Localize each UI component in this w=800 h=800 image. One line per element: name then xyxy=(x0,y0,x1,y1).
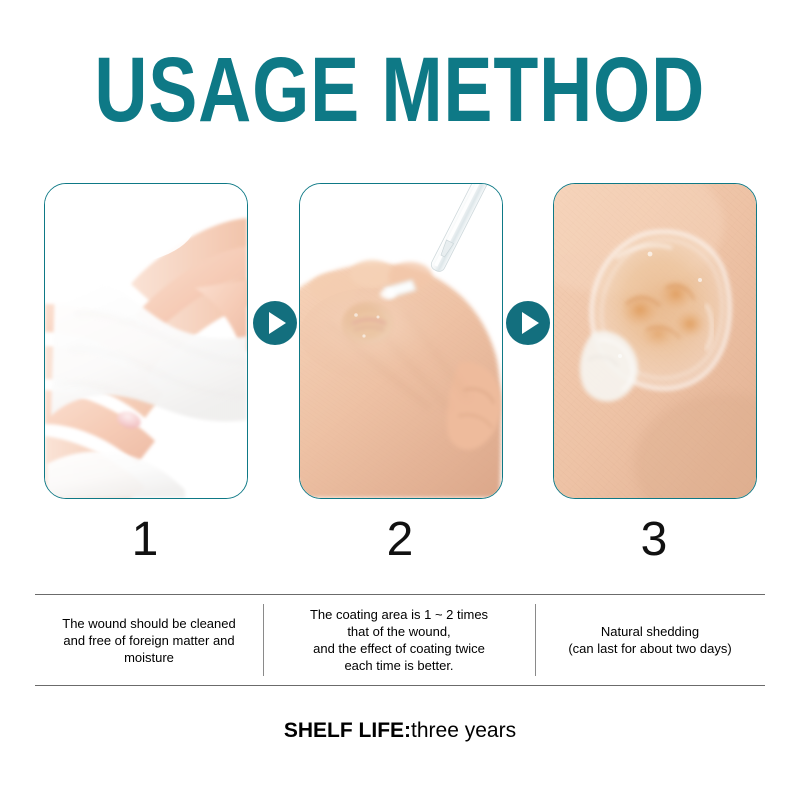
step-image-3 xyxy=(554,184,756,498)
step-panel-1 xyxy=(44,183,248,499)
caption-line: Natural shedding xyxy=(601,624,699,639)
caption-line: (can last for about two days) xyxy=(568,641,731,656)
caption-divider-1 xyxy=(263,604,264,676)
applicator-on-hand-illustration xyxy=(300,184,502,498)
shedding-film-illustration xyxy=(554,184,756,498)
step-number-1: 1 xyxy=(44,514,246,566)
caption-line: The wound should be cleaned xyxy=(62,616,235,631)
caption-line: and the effect of coating twice xyxy=(313,641,485,656)
triangle-glyph xyxy=(522,312,539,334)
step-panel-2 xyxy=(299,183,503,499)
caption-line: The coating area is 1 ~ 2 times xyxy=(310,607,488,622)
hand-cleaning-illustration xyxy=(45,184,247,498)
captions-block: The wound should be cleaned and free of … xyxy=(35,594,765,686)
step-number-3: 3 xyxy=(553,514,755,566)
shelf-life-line: SHELF LIFE:three years xyxy=(0,718,800,744)
step-image-2 xyxy=(300,184,502,498)
step-caption-1: The wound should be cleaned and free of … xyxy=(35,595,263,685)
caption-line: that of the wound, xyxy=(347,624,450,639)
step-numbers-row: 1 2 3 xyxy=(0,514,800,570)
caption-line: moisture xyxy=(124,650,174,665)
step-number-2: 2 xyxy=(299,514,501,566)
step-image-1 xyxy=(45,184,247,498)
step-caption-3: Natural shedding (can last for about two… xyxy=(535,595,765,685)
step-caption-2: The coating area is 1 ~ 2 times that of … xyxy=(263,595,535,685)
captions-columns: The wound should be cleaned and free of … xyxy=(35,595,765,685)
triangle-glyph xyxy=(269,312,286,334)
step-panel-3 xyxy=(553,183,757,499)
caption-line: and free of foreign matter and xyxy=(63,633,234,648)
play-arrow-icon-2 xyxy=(506,301,550,345)
page-title-container: USAGE METHOD xyxy=(0,44,800,136)
play-arrow-icon-1 xyxy=(253,301,297,345)
caption-divider-2 xyxy=(535,604,536,676)
shelf-life-value: three years xyxy=(411,719,516,742)
caption-line: each time is better. xyxy=(344,658,453,673)
shelf-life-label: SHELF LIFE: xyxy=(284,719,411,742)
page-title: USAGE METHOD xyxy=(95,44,706,136)
steps-row xyxy=(0,183,800,499)
